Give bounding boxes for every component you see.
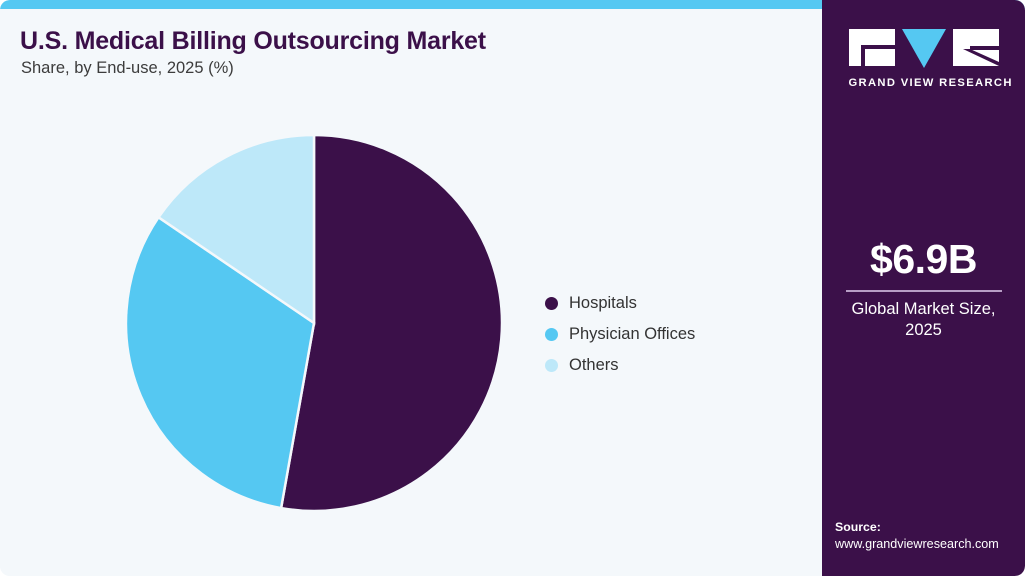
legend-item-others[interactable]: Others — [545, 350, 695, 381]
grand-view-research-logo: GRAND VIEW RESEARCH — [849, 27, 999, 89]
legend-label: Others — [569, 356, 619, 375]
legend-swatch-icon — [545, 328, 558, 341]
source-url[interactable]: www.grandviewresearch.com — [835, 536, 1025, 553]
pie-chart — [126, 135, 502, 511]
legend-item-hospitals[interactable]: Hospitals — [545, 288, 695, 319]
stat-value: $6.9B — [822, 238, 1025, 281]
chart-legend: Hospitals Physician Offices Others — [545, 288, 695, 381]
pie-slice-group — [126, 135, 502, 511]
legend-item-physician-offices[interactable]: Physician Offices — [545, 319, 695, 350]
infographic-card: U.S. Medical Billing Outsourcing Market … — [0, 0, 1025, 576]
source-label: Source: — [835, 519, 1025, 536]
legend-label: Physician Offices — [569, 325, 695, 344]
pie-chart-svg — [126, 135, 502, 511]
chart-panel: U.S. Medical Billing Outsourcing Market … — [0, 9, 822, 576]
legend-swatch-icon — [545, 359, 558, 372]
logo-wordmark: GRAND VIEW RESEARCH — [849, 77, 999, 89]
legend-swatch-icon — [545, 297, 558, 310]
stat-divider — [846, 290, 1002, 292]
brand-side-panel: GRAND VIEW RESEARCH $6.9B Global Market … — [822, 0, 1025, 576]
legend-label: Hospitals — [569, 294, 637, 313]
source-block: Source: www.grandviewresearch.com — [835, 519, 1025, 553]
logo-mark-icon — [849, 27, 999, 71]
page-title: U.S. Medical Billing Outsourcing Market — [20, 27, 486, 56]
page-subtitle: Share, by End-use, 2025 (%) — [21, 59, 234, 78]
stat-caption: Global Market Size, 2025 — [822, 299, 1025, 342]
market-size-stat: $6.9B Global Market Size, 2025 — [822, 238, 1025, 341]
